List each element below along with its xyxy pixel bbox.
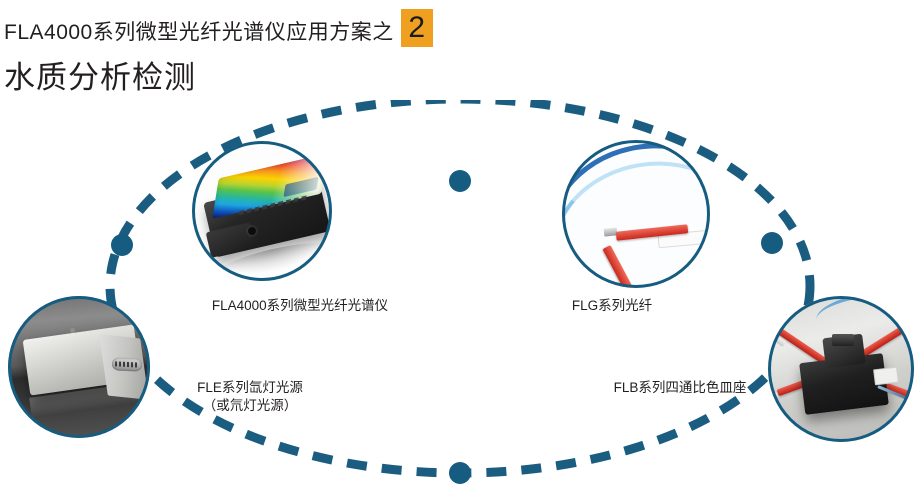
node-top-dot <box>449 170 471 192</box>
caption-light-source-line2: （或氘灯光源） <box>155 396 345 415</box>
slide-header: FLA4000系列微型光纤光谱仪应用方案之 2 水质分析检测 <box>0 0 920 112</box>
xenon-lamp-photo <box>8 296 150 438</box>
page-title: FLA4000系列微型光纤光谱仪应用方案之 <box>4 18 394 48</box>
product-cuvette-holder-photo <box>768 296 914 442</box>
page-subtitle: 水质分析检测 <box>4 52 196 97</box>
step-number-badge: 2 <box>401 9 433 47</box>
caption-light-source-line1: FLE系列氙灯光源 <box>155 378 345 397</box>
product-spectrometer-photo <box>192 141 332 281</box>
slide-canvas: FLA4000系列微型光纤光谱仪应用方案之 2 水质分析检测 FLA4000系列… <box>0 0 920 489</box>
product-fiber-photo <box>562 140 710 288</box>
title-row: FLA4000系列微型光纤光谱仪应用方案之 2 <box>4 18 433 48</box>
caption-spectrometer: FLA4000系列微型光纤光谱仪 <box>165 296 435 315</box>
caption-cuvette-holder: FLB系列四通比色皿座 <box>570 378 790 397</box>
caption-fiber: FLG系列光纤 <box>512 296 712 315</box>
spectrometer-photo <box>192 141 332 281</box>
cuvette-holder-photo <box>768 296 914 442</box>
node-bottom-dot <box>449 462 471 484</box>
node-right-dot <box>761 232 783 254</box>
optical-fiber-photo <box>562 140 710 288</box>
product-light-source-photo <box>8 296 150 438</box>
node-left-dot <box>111 234 133 256</box>
